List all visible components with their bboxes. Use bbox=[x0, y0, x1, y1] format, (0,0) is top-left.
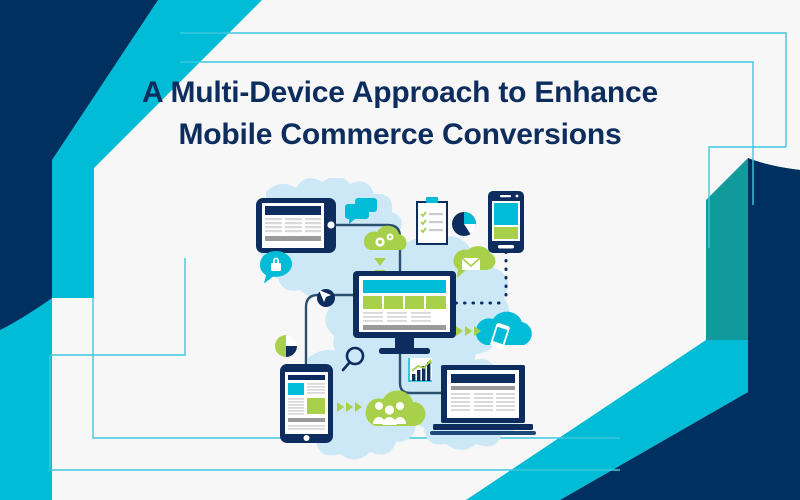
bottom-right-teal-band bbox=[706, 158, 748, 340]
multi-device-illustration bbox=[248, 178, 552, 470]
laptop-bottom-right[interactable] bbox=[430, 365, 536, 435]
cursor-click-icon bbox=[317, 289, 335, 307]
bottom-right-navy-corner bbox=[748, 158, 800, 392]
pie-chart-icon bbox=[452, 212, 476, 236]
pie-chart-small-icon bbox=[275, 335, 297, 357]
clipboard-checklist-icon[interactable] bbox=[417, 197, 447, 244]
tablet-landscape-top-left[interactable] bbox=[256, 198, 336, 253]
banner-root: A Multi-Device Approach to Enhance Mobil… bbox=[0, 0, 800, 500]
top-left-shape-group bbox=[0, 0, 252, 330]
bar-chart-growth-icon bbox=[408, 358, 432, 382]
title-line-2: Mobile Commerce Conversions bbox=[0, 114, 800, 156]
page-title: A Multi-Device Approach to Enhance Mobil… bbox=[0, 72, 800, 156]
smartphone-top-right[interactable] bbox=[488, 191, 524, 253]
tablet-portrait-bottom-left[interactable] bbox=[280, 364, 333, 443]
title-line-1: A Multi-Device Approach to Enhance bbox=[0, 72, 800, 114]
